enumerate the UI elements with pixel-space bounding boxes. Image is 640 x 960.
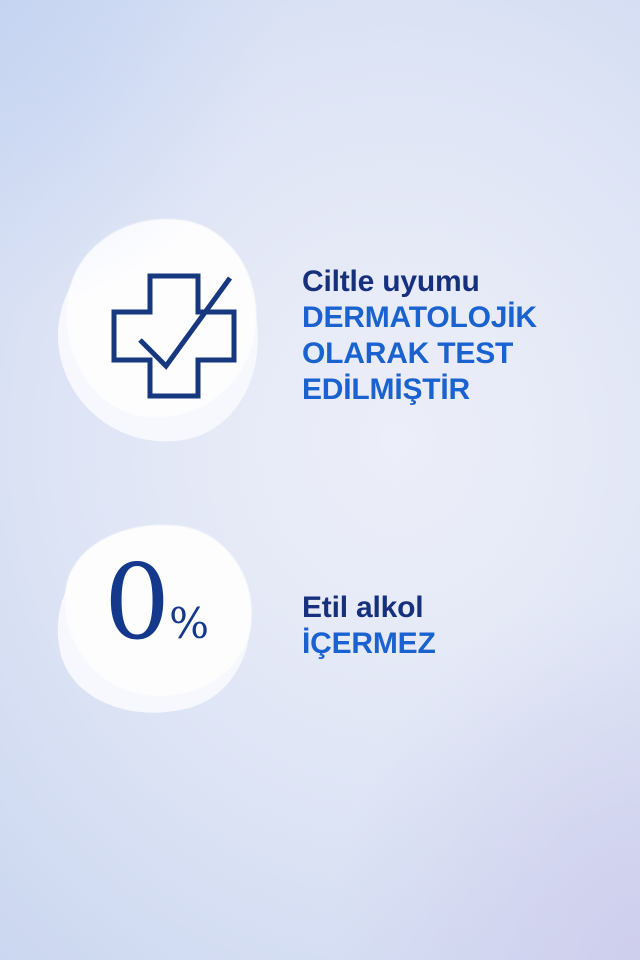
zero-percent-icon: 0 % xyxy=(104,550,254,670)
icon-area-dermatologically-tested xyxy=(0,210,265,460)
zero-percent-number: 0 xyxy=(104,550,168,654)
feature-title-dermatologically-tested: Ciltle uyumu xyxy=(302,263,640,300)
medical-cross-check-icon xyxy=(104,264,244,404)
feature-emphasis-line-2: OLARAK TEST xyxy=(302,336,640,372)
text-area-alcohol-free: Etil alkol İÇERMEZ xyxy=(265,589,640,662)
text-area-dermatologically-tested: Ciltle uyumu DERMATOLOJİK OLARAK TEST ED… xyxy=(265,263,640,408)
feature-row-alcohol-free: 0 % Etil alkol İÇERMEZ xyxy=(0,520,640,730)
feature-emphasis-line-1: DERMATOLOJİK xyxy=(302,300,640,336)
feature-title-alcohol-free: Etil alkol xyxy=(302,589,640,626)
feature-row-dermatologically-tested: Ciltle uyumu DERMATOLOJİK OLARAK TEST ED… xyxy=(0,210,640,460)
icon-area-alcohol-free: 0 % xyxy=(0,520,265,730)
feature-emphasis-line-3: EDİLMİŞTİR xyxy=(302,372,640,408)
feature-emphasis-line-1: İÇERMEZ xyxy=(302,626,640,662)
product-claims-poster: Ciltle uyumu DERMATOLOJİK OLARAK TEST ED… xyxy=(0,0,640,960)
zero-percent-unit: % xyxy=(169,603,209,645)
